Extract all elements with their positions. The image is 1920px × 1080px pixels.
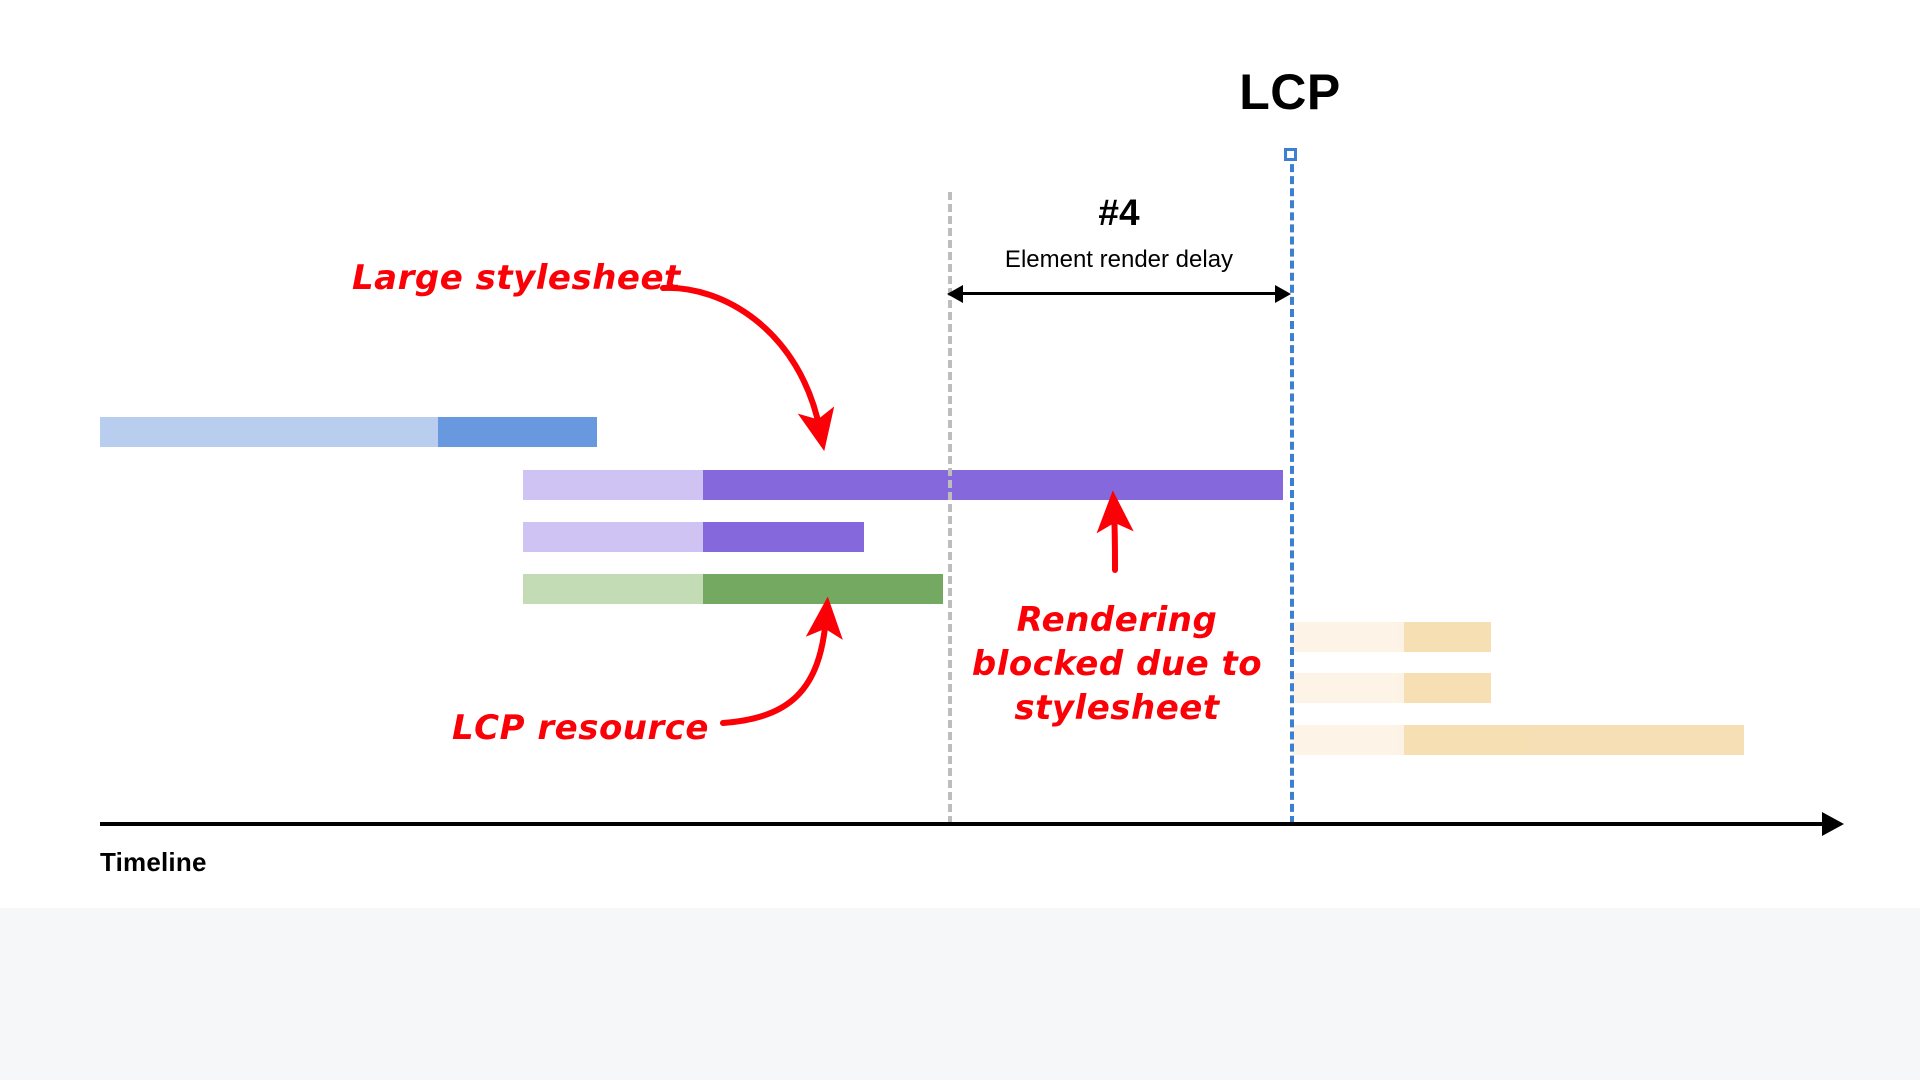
request-bar-image-3	[523, 574, 943, 604]
request-bar-wait-segment	[1292, 673, 1404, 703]
request-bar-wait-segment	[1292, 622, 1404, 652]
annotation-rendering-blocked: Rendering blocked due to stylesheet	[972, 598, 1262, 731]
request-bar-download-segment	[438, 417, 597, 447]
lcp-guide-line	[1290, 152, 1294, 824]
request-bar-download-segment	[703, 470, 1283, 500]
lcp-marker-icon	[1284, 148, 1297, 161]
phase-measure-line	[962, 292, 1276, 295]
request-bar-stylesheet-1	[523, 470, 1283, 500]
request-bar-script-5	[1292, 673, 1491, 703]
request-bar-download-segment	[703, 522, 864, 552]
request-bar-wait-segment	[523, 574, 703, 604]
arrow-rendering-blocked	[1114, 512, 1115, 570]
request-bar-script-6	[1292, 725, 1744, 755]
timeline-axis-line	[100, 822, 1828, 826]
request-bar-download-segment	[1404, 725, 1744, 755]
infographic-root: LCP #4Element render delay Large stylesh…	[0, 0, 1920, 1080]
annotation-large-stylesheet: Large stylesheet	[352, 256, 681, 300]
request-bar-wait-segment	[523, 470, 703, 500]
waterfall-chart: LCP #4Element render delay Large stylesh…	[0, 0, 1920, 905]
arrow-lcp-resource	[723, 618, 826, 723]
request-bar-stylesheet-2	[523, 522, 864, 552]
timeline-axis-label: Timeline	[100, 847, 207, 878]
request-bar-document-0	[100, 417, 597, 447]
arrow-large-stylesheet	[663, 288, 820, 430]
timeline-axis-arrow-icon	[1822, 812, 1844, 836]
phase-arrow-right-icon	[1275, 285, 1291, 303]
request-bar-wait-segment	[100, 417, 438, 447]
request-bar-download-segment	[703, 574, 943, 604]
request-bar-wait-segment	[1292, 725, 1404, 755]
request-bar-wait-segment	[523, 522, 703, 552]
legend-panel: DocumentStylesheetImageScript	[0, 908, 1920, 1080]
request-bar-script-4	[1292, 622, 1491, 652]
request-bar-download-segment	[1404, 673, 1491, 703]
annotation-lcp-resource: LCP resource	[452, 706, 709, 750]
phase-number-label: #4	[1098, 192, 1139, 234]
phase-arrow-left-icon	[947, 285, 963, 303]
annotation-arrows	[0, 0, 1920, 905]
request-bar-download-segment	[1404, 622, 1491, 652]
phase-name-label: Element render delay	[1005, 246, 1233, 274]
lcp-label: LCP	[1239, 63, 1341, 121]
